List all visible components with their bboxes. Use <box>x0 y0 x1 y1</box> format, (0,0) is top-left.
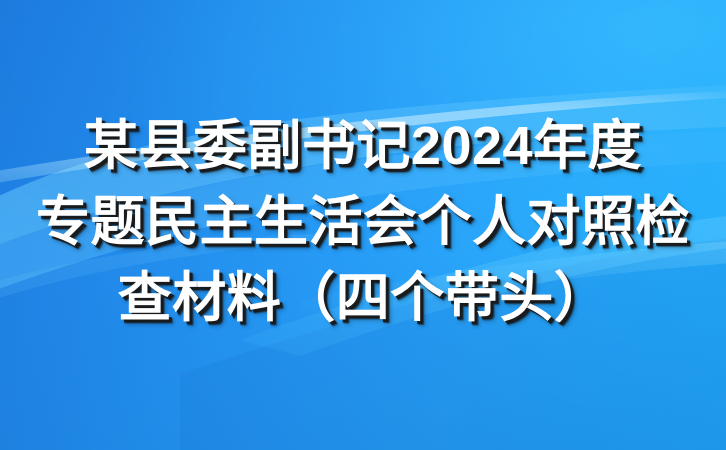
cover-title: 某县委副书记2024年度 专题民主生活会个人对照检 查材料（四个带头） <box>0 108 726 336</box>
title-line-2: 专题民主生活会个人对照检 <box>16 184 710 260</box>
title-line-1: 某县委副书记2024年度 <box>16 108 710 184</box>
title-line-3: 查材料（四个带头） <box>16 260 710 336</box>
cover-image: 某县委副书记2024年度 专题民主生活会个人对照检 查材料（四个带头） <box>0 0 726 450</box>
